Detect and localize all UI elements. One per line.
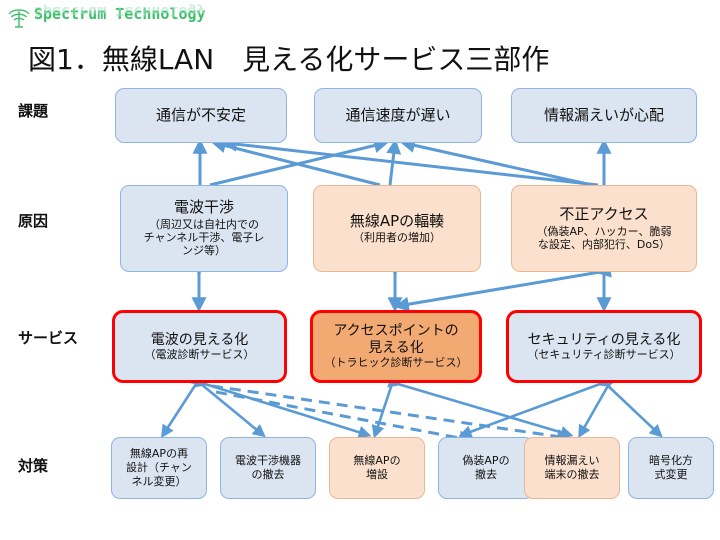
measure-title-4: 偽装APの撤去 xyxy=(462,454,509,483)
service-title-1: 電波の見える化 xyxy=(151,332,249,349)
link-service3-measure5 xyxy=(580,384,609,435)
measure-title-2: 電波干渉機器の撤去 xyxy=(235,454,301,483)
service-box-2[interactable]: アクセスポイントの見える化 （トラヒック診断サービス） xyxy=(310,310,482,383)
cause-box-2[interactable]: 無線APの輻輳 （利用者の増加） xyxy=(313,185,481,272)
link-service1-measure4-dashed xyxy=(216,392,470,440)
link-service1-measure1 xyxy=(163,384,196,435)
issue-box-1[interactable]: 通信が不安定 xyxy=(115,88,287,143)
service-detail-2: （トラヒック診断サービス） xyxy=(325,356,468,369)
measure-box-5[interactable]: 情報漏えい端末の撤去 xyxy=(524,437,620,499)
link-cause2-issue2 xyxy=(390,143,395,185)
measure-box-6[interactable]: 暗号化方式変更 xyxy=(628,437,714,499)
measure-title-5: 情報漏えい端末の撤去 xyxy=(545,454,600,483)
service-title-3: セキュリティの見える化 xyxy=(528,332,681,349)
measure-title-3: 無線APの増設 xyxy=(353,454,400,483)
issue-box-3[interactable]: 情報漏えいが心配 xyxy=(511,88,697,143)
cause-detail-3: （偽装AP、ハッカー、脆弱な設定、内部犯行、DoS） xyxy=(536,225,671,251)
link-cause3-service2 xyxy=(398,272,600,306)
service-title-2: アクセスポイントの見える化 xyxy=(333,323,458,356)
measure-box-1[interactable]: 無線APの再設計（チャンネル変更） xyxy=(111,437,207,499)
cause-box-1[interactable]: 電波干渉 （周辺又は自社内でのチャンネル干渉、電子レンジ等） xyxy=(120,185,288,272)
issue-title-2: 通信速度が遅い xyxy=(345,107,450,125)
service-box-3[interactable]: セキュリティの見える化 （セキュリティ診断サービス） xyxy=(506,310,702,383)
measure-title-6: 暗号化方式変更 xyxy=(649,454,693,483)
service-detail-3: （セキュリティ診断サービス） xyxy=(527,348,680,361)
link-service1-measure3 xyxy=(205,384,368,435)
cause-title-1: 電波干渉 xyxy=(174,199,234,217)
issue-title-1: 通信が不安定 xyxy=(156,107,246,125)
cause-detail-2: （利用者の増加） xyxy=(353,231,441,244)
measure-box-4[interactable]: 偽装APの撤去 xyxy=(438,437,534,499)
measure-title-1: 無線APの再設計（チャンネル変更） xyxy=(126,447,192,490)
service-box-1[interactable]: 電波の見える化 （電波診断サービス） xyxy=(112,310,287,383)
link-cause3-issue1 xyxy=(226,143,598,185)
cause-box-3[interactable]: 不正アクセス （偽装AP、ハッカー、脆弱な設定、内部犯行、DoS） xyxy=(511,185,697,272)
cause-title-3: 不正アクセス xyxy=(559,206,648,224)
issue-box-2[interactable]: 通信速度が遅い xyxy=(314,88,482,143)
diagram-canvas: Spectrum Technology Spectrum Technology … xyxy=(0,0,720,540)
cause-title-2: 無線APの輻輳 xyxy=(350,213,444,231)
link-service3-measure6 xyxy=(606,384,660,435)
cause-detail-1: （周辺又は自社内でのチャンネル干渉、電子レンジ等） xyxy=(144,218,265,258)
measure-box-2[interactable]: 電波干渉機器の撤去 xyxy=(220,437,316,499)
measure-box-3[interactable]: 無線APの増設 xyxy=(329,437,425,499)
issue-title-3: 情報漏えいが心配 xyxy=(544,107,664,125)
service-detail-1: （電波診断サービス） xyxy=(145,348,255,361)
link-cause3-issue2 xyxy=(404,143,592,185)
